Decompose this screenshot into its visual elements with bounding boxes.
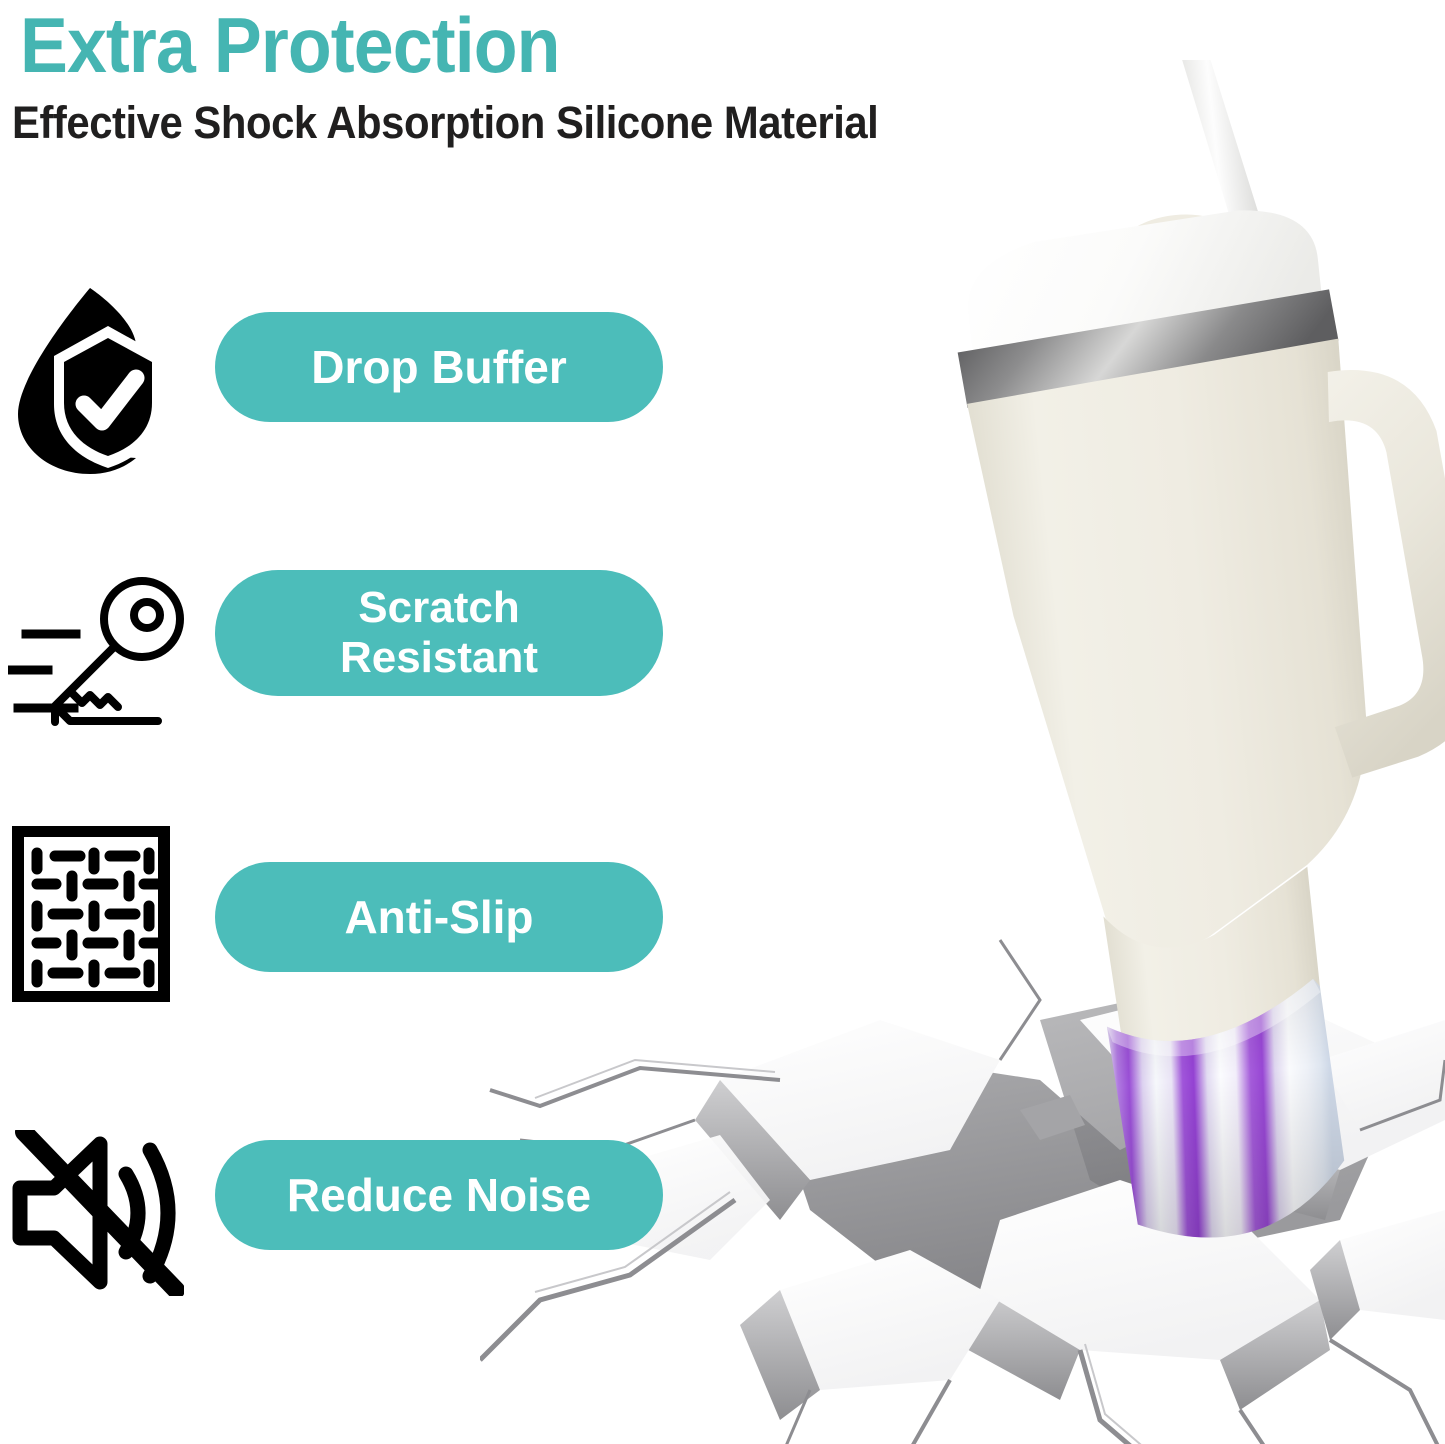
feature-pill-anti-slip[interactable]: Anti-Slip <box>215 862 663 972</box>
water-drop-shield-check-icon <box>12 286 188 476</box>
cream-body <box>964 339 1400 967</box>
muted-speaker-icon <box>8 1130 184 1296</box>
feature-label: Scratch Resistant <box>340 583 538 683</box>
feature-pill-reduce-noise[interactable]: Reduce Noise <box>215 1140 663 1250</box>
feature-label: Reduce Noise <box>287 1169 591 1221</box>
feature-label: Anti-Slip <box>344 891 533 943</box>
page-title: Extra Protection <box>20 2 560 88</box>
feature-pill-drop-buffer[interactable]: Drop Buffer <box>215 312 663 422</box>
feature-pill-scratch-resistant[interactable]: Scratch Resistant <box>215 570 663 696</box>
anti-slip-texture-icon <box>12 826 170 1002</box>
infographic-page: Extra Protection Effective Shock Absorpt… <box>0 0 1445 1444</box>
key-motion-icon <box>8 566 188 726</box>
feature-label: Drop Buffer <box>311 341 567 393</box>
